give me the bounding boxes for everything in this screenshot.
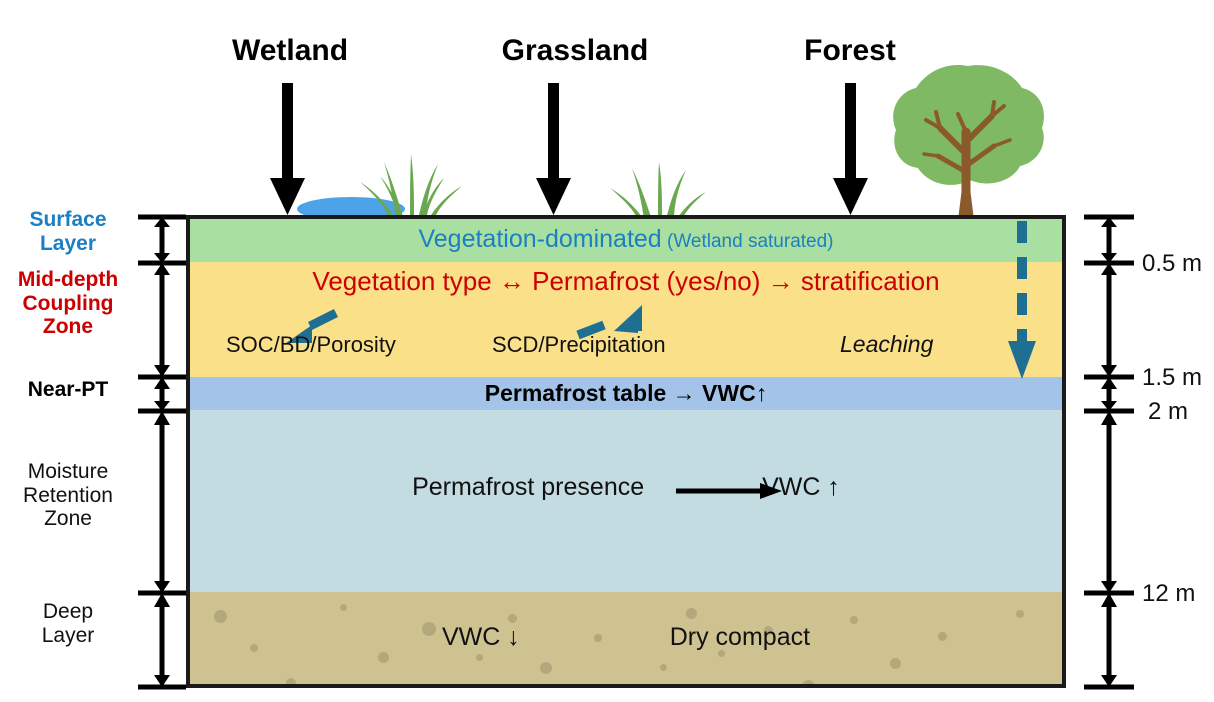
- zone-label-surface-layer: Surface Layer: [0, 208, 136, 255]
- moisture-arrow-icon: [676, 481, 786, 501]
- layer-surface-main: Vegetation-dominated: [418, 225, 661, 253]
- left-depth-brackets: [130, 205, 192, 695]
- zone-label-near-pt: Near-PT: [0, 378, 136, 402]
- zone-label-deep-layer: Deep Layer: [0, 600, 136, 647]
- layer-permafrost-table-text: Permafrost table → VWC↑: [190, 380, 1062, 407]
- grass-tuft-icon-2: [600, 156, 710, 220]
- tree-icon: [888, 62, 1048, 220]
- coupling-arrow-left: [310, 313, 336, 326]
- layer-mid-headline: Vegetation type ↔ Permafrost (yes/no) → …: [190, 266, 1062, 297]
- depth-label-12m: 12 m: [1142, 580, 1195, 608]
- depth-label-1-5m: 1.5 m: [1142, 364, 1202, 392]
- layer-deep-left: VWC ↓: [442, 623, 520, 651]
- depth-label-0-5m: 0.5 m: [1142, 250, 1202, 278]
- layer-mid-left-driver: SOC/BD/Porosity: [226, 332, 396, 358]
- layer-deep-text: VWC ↓Dry compact: [190, 623, 1062, 652]
- right-depth-brackets: [1080, 205, 1142, 695]
- layer-surface-text: Vegetation-dominated (Wetland saturated): [190, 225, 1062, 254]
- layer-moisture-text: Permafrost presenceVWC ↑: [190, 473, 1062, 502]
- diagram-canvas: Wetland Grassland Forest: [0, 0, 1214, 702]
- leaching-label: Leaching: [840, 331, 933, 358]
- arrow-down-forest: [833, 83, 868, 215]
- layer-mid-right-driver: SCD/Precipitation: [492, 332, 666, 358]
- arrow-down-grassland: [536, 83, 571, 215]
- grass-tuft-icon-1: [348, 148, 466, 220]
- zone-label-mid-depth: Mid-depth Coupling Zone: [0, 268, 136, 339]
- layer-moisture-left: Permafrost presence: [412, 473, 644, 501]
- layer-surface: Vegetation-dominated (Wetland saturated): [190, 219, 1062, 262]
- depth-label-2m: 2 m: [1148, 398, 1188, 426]
- leaching-arrow-icon: [1008, 219, 1048, 385]
- soil-profile-box: Vegetation-dominated (Wetland saturated): [186, 215, 1066, 688]
- layer-deep-right: Dry compact: [670, 623, 810, 651]
- zone-label-moisture-retention: Moisture Retention Zone: [0, 460, 136, 531]
